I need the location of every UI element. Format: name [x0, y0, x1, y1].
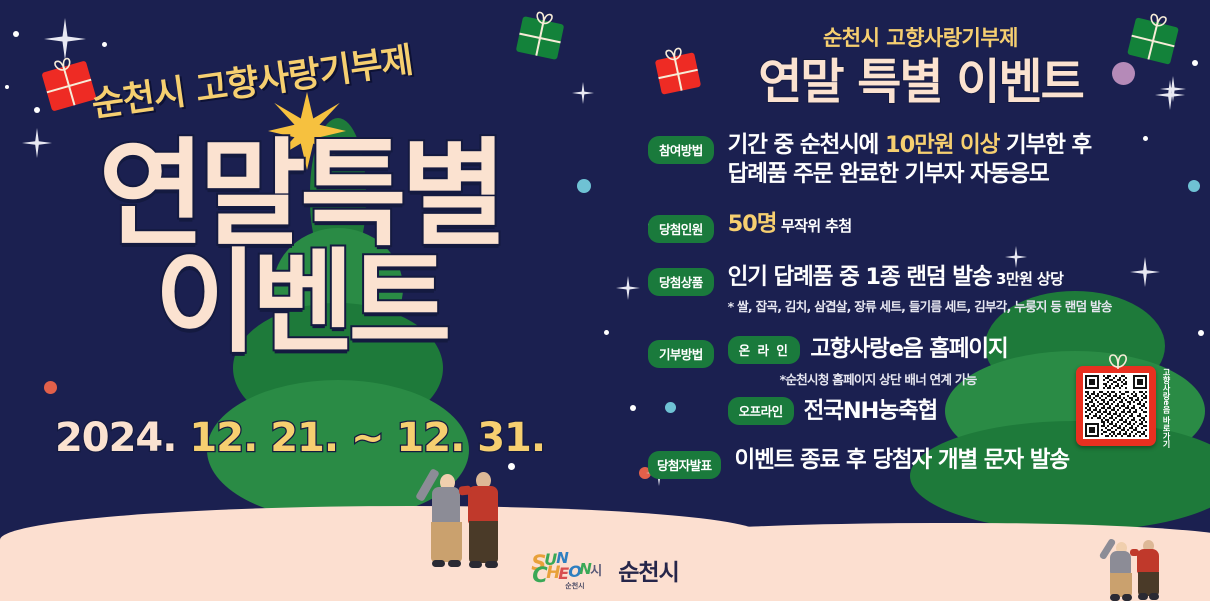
person-figure: [456, 466, 508, 568]
participation-line2: 답례품 주문 완료한 기부자 자동응모: [728, 160, 1193, 190]
left-arc-title-text: 순천시 고향사랑기부제: [88, 32, 415, 127]
right-title: 연말 특별 이벤트: [648, 56, 1193, 109]
winners-count-note: 무작위 추첨: [776, 217, 851, 235]
star-dot: [44, 381, 57, 394]
badge-offline: 오프라인: [728, 397, 794, 425]
prize-note: * 쌀, 잡곡, 김치, 삼겹살, 장류 세트, 들기름 세트, 김부각, 누룽…: [728, 296, 1193, 315]
star-dot: [13, 31, 19, 37]
badge-participation: 참여방법: [648, 136, 714, 164]
left-arc-title: 순천시 고향사랑기부제: [90, 30, 520, 110]
donation-online-value: 고향사랑e음 홈페이지: [810, 335, 1007, 365]
info-row-prize: 당첨상품 인기 답례품 중 1종 랜덤 발송 3만원 상당 * 쌀, 잡곡, 김…: [648, 263, 1193, 315]
sparkle-icon: [572, 82, 594, 104]
event-date-range: 12. 21. ~ 12. 31.: [189, 415, 545, 461]
qr-svg: [1083, 373, 1149, 439]
event-date-line: 2024. 12. 21. ~ 12. 31.: [0, 415, 600, 461]
right-subtitle: 순천시 고향사랑기부제: [648, 22, 1193, 52]
participation-line1-b: 기부한 후: [999, 132, 1091, 158]
suncheon-logo: S U N C H E O N 시 순천시 순천시: [531, 551, 678, 589]
row-body: 이벤트 종료 후 당첨자 개별 문자 발송: [735, 446, 1193, 476]
left-headline-line1: 연말특별: [0, 140, 600, 250]
info-row-participation: 참여방법 기간 중 순천시에 10만원 이상 기부한 후 답례품 주문 완료한 …: [648, 131, 1193, 190]
badge-announcement: 당첨자발표: [648, 451, 721, 479]
qr-caption-line1: 고향사랑e음: [1162, 368, 1171, 413]
star-dot: [34, 107, 40, 113]
row-body: 기간 중 순천시에 10만원 이상 기부한 후 답례품 주문 완료한 기부자 자…: [728, 131, 1193, 190]
participation-amount: 10만원 이상: [885, 132, 999, 158]
gift-box-green: [516, 16, 565, 60]
star-dot: [630, 405, 636, 411]
left-headline-line2: 이벤트: [0, 250, 600, 356]
badge-prize: 당첨상품: [648, 268, 714, 296]
couple-figures-right: [1100, 532, 1186, 598]
participation-line1-a: 기간 중 순천시에: [728, 132, 885, 158]
logo-letter-si: 시: [590, 560, 602, 579]
badge-donation-method: 기부방법: [648, 340, 714, 368]
qr-code-image[interactable]: [1083, 373, 1149, 439]
qr-frame[interactable]: [1076, 366, 1156, 446]
winners-count-value: 50명: [728, 211, 777, 237]
announcement-value: 이벤트 종료 후 당첨자 개별 문자 발송: [735, 446, 1193, 476]
prize-value: 인기 답례품 중 1종 랜덤 발송: [728, 264, 992, 290]
couple-figures-left: [418, 460, 528, 568]
qr-caption: 고향사랑e음 바로가기: [1160, 368, 1172, 448]
bow-icon: [1104, 353, 1132, 369]
suncheon-logo-text: 순천시: [618, 553, 678, 587]
star-dot: [604, 330, 609, 335]
row-body: 50명 무작위 추첨: [728, 210, 1193, 240]
row-body: 인기 답례품 중 1종 랜덤 발송 3만원 상당 * 쌀, 잡곡, 김치, 삼겹…: [728, 263, 1193, 315]
donation-offline-value: 전국NH농축협: [804, 397, 937, 427]
star-dot: [5, 85, 9, 89]
badge-online: 온 라 인: [728, 336, 801, 364]
event-date-prefix: 2024.: [55, 415, 177, 461]
participation-line1: 기간 중 순천시에 10만원 이상 기부한 후: [728, 131, 1193, 161]
promo-banner: 순천시 고향사랑기부제 연말특별 이벤트 2024. 12. 21. ~ 12.…: [0, 0, 1210, 601]
winners-count-line: 50명 무작위 추첨: [728, 210, 1193, 240]
suncheon-logo-mark: S U N C H E O N 시 순천시: [531, 551, 609, 589]
badge-winners-count: 당첨인원: [648, 215, 714, 243]
person-figure: [1128, 537, 1168, 598]
prize-value-note: 3만원 상당: [991, 270, 1063, 288]
sparkle-icon: [44, 18, 86, 60]
prize-line: 인기 답례품 중 1종 랜덤 발송 3만원 상당: [728, 263, 1193, 293]
info-row-winners-count: 당첨인원 50명 무작위 추첨: [648, 210, 1193, 243]
qr-caption-line2: 바로가기: [1162, 416, 1171, 448]
left-headline: 연말특별 이벤트: [0, 140, 600, 357]
sparkle-icon: [616, 276, 640, 300]
info-row-announcement: 당첨자발표 이벤트 종료 후 당첨자 개별 문자 발송: [648, 446, 1193, 479]
logo-subtext: 순천시: [565, 581, 584, 591]
qr-code-ornament[interactable]: 고향사랑e음 바로가기: [1076, 366, 1172, 446]
